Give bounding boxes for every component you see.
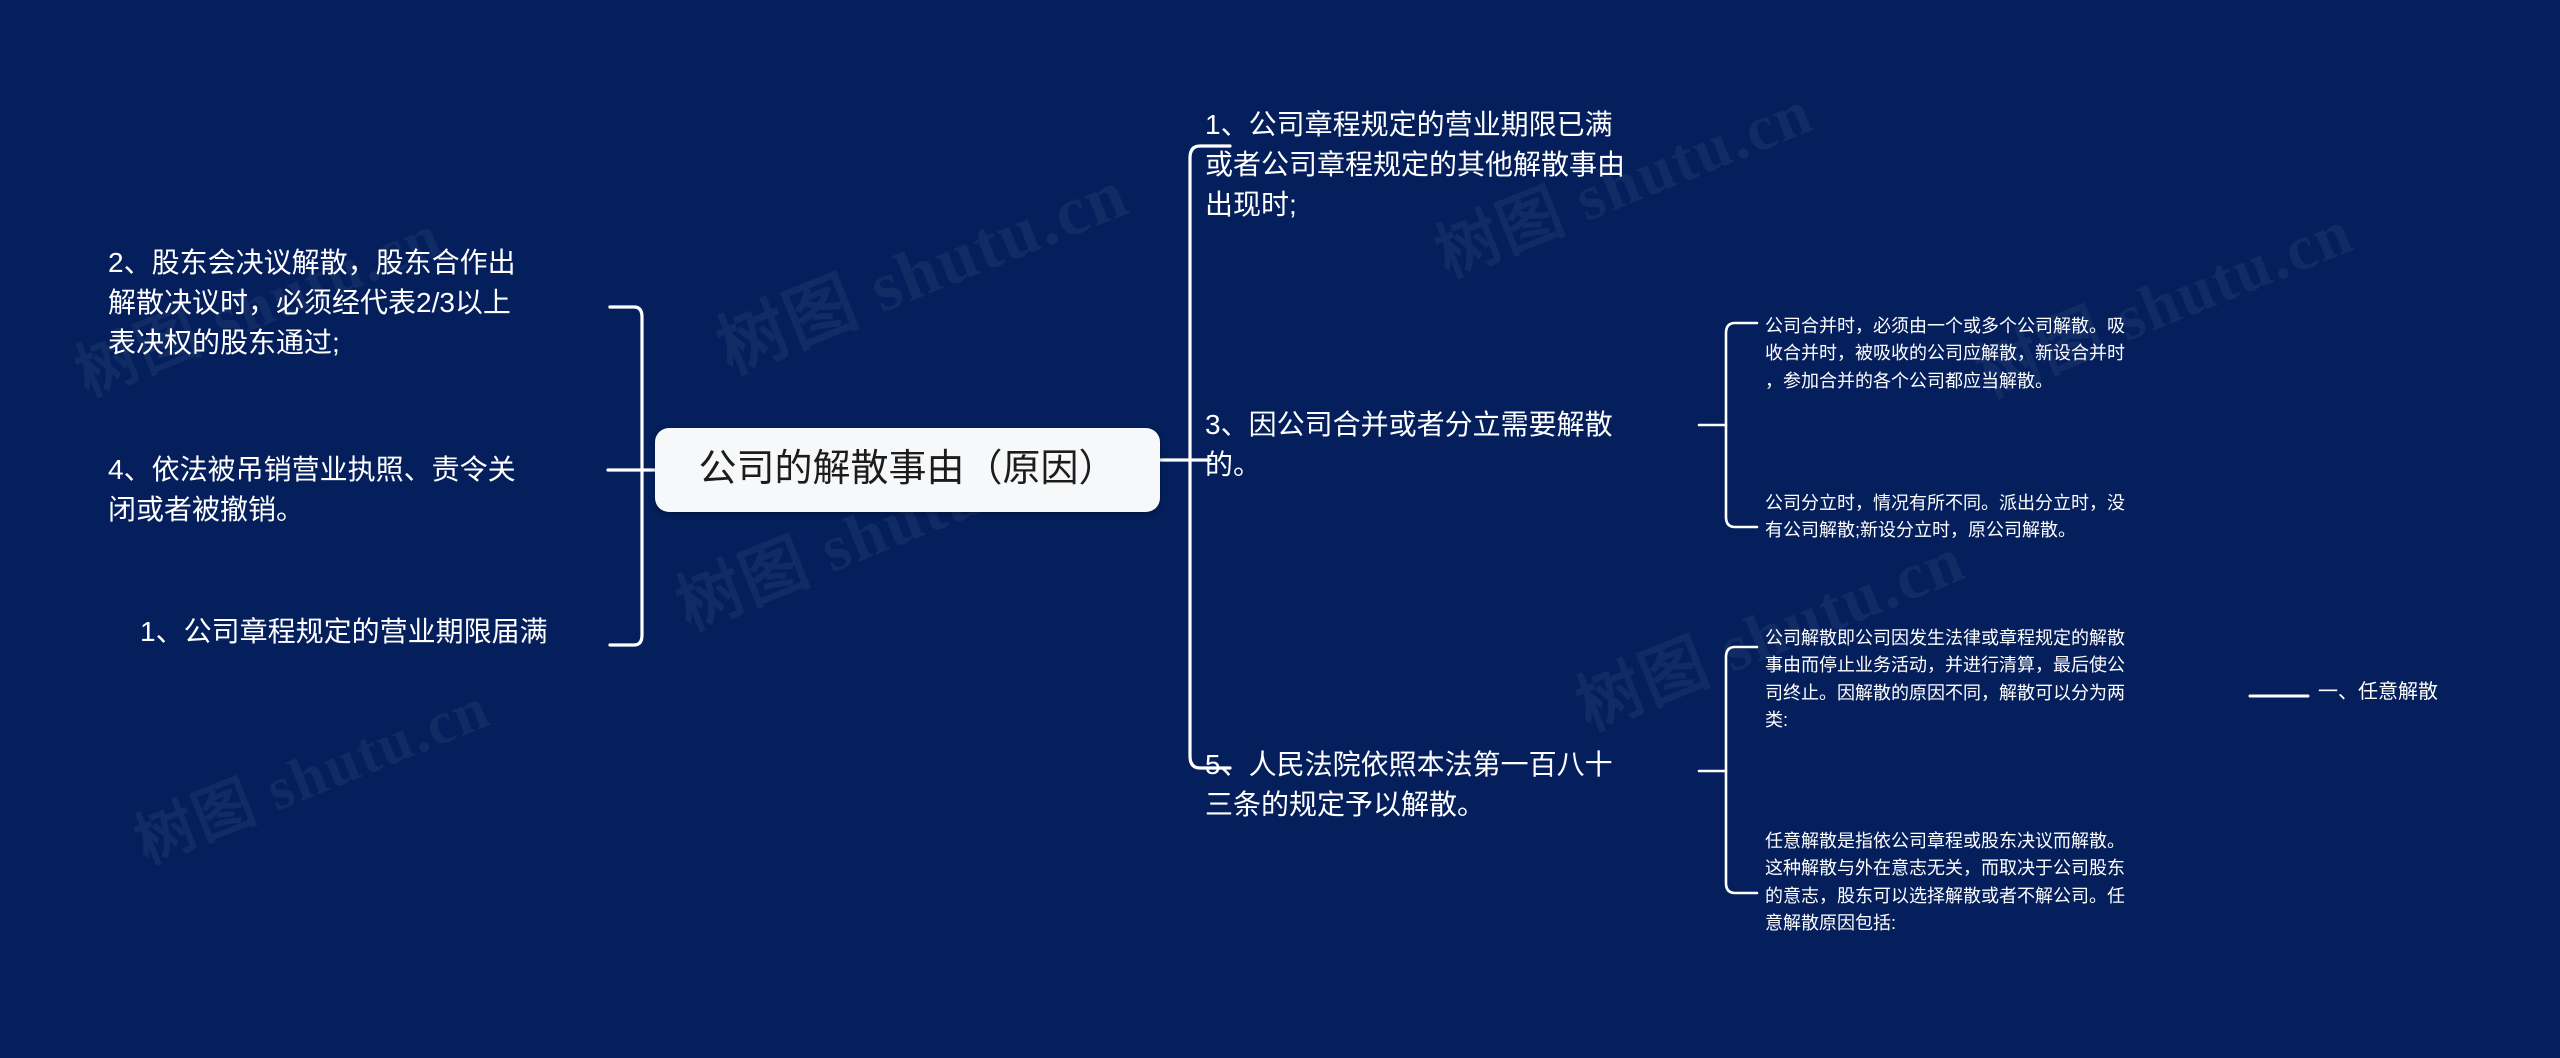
tail-label-arbitrary-dissolution[interactable]: 一、任意解散 — [2318, 678, 2438, 706]
branch-right-5[interactable]: 5、人民法院依照本法第一百八十 三条的规定予以解散。 — [1205, 745, 1705, 825]
center-node-label: 公司的解散事由（原因） — [698, 449, 1116, 491]
branch-right-3[interactable]: 3、因公司合并或者分立需要解散 的。 — [1205, 405, 1705, 485]
watermark: 树图 shutu.cn — [700, 137, 1141, 393]
connector-sub-bracket-5 — [1695, 625, 1765, 925]
watermark: 树图 shutu.cn — [120, 659, 501, 880]
branch-right-1[interactable]: 1、公司章程规定的营业期限已满 或者公司章程规定的其他解散事由 出现时; — [1205, 105, 1705, 224]
branch-left-2[interactable]: 2、股东会决议解散，股东合作出 解散决议时，必须经代表2/3以上 表决权的股东通… — [108, 243, 578, 362]
branch-left-1[interactable]: 1、公司章程规定的营业期限届满 — [140, 612, 600, 652]
center-node[interactable]: 公司的解散事由（原因） — [655, 428, 1160, 512]
connector-sub-bracket-3 — [1695, 305, 1765, 555]
mindmap-canvas: 树图 shutu.cn 树图 shutu.cn 树图 shutu.cn 树图 s… — [0, 0, 2560, 1058]
subbranch-right-3-b[interactable]: 公司分立时，情况有所不同。派出分立时，没 有公司解散;新设分立时，原公司解散。 — [1765, 490, 2285, 545]
branch-left-4[interactable]: 4、依法被吊销营业执照、责令关 闭或者被撤销。 — [108, 450, 578, 530]
subbranch-right-3-a[interactable]: 公司合并时，必须由一个或多个公司解散。吸 收合并时，被吸收的公司应解散，新设合并… — [1765, 313, 2285, 395]
subbranch-right-5-b[interactable]: 任意解散是指依公司章程或股东决议而解散。 这种解散与外在意志无关，而取决于公司股… — [1765, 828, 2285, 937]
subbranch-right-5-a[interactable]: 公司解散即公司因发生法律或章程规定的解散 事由而停止业务活动，并进行清算，最后使… — [1765, 625, 2285, 734]
